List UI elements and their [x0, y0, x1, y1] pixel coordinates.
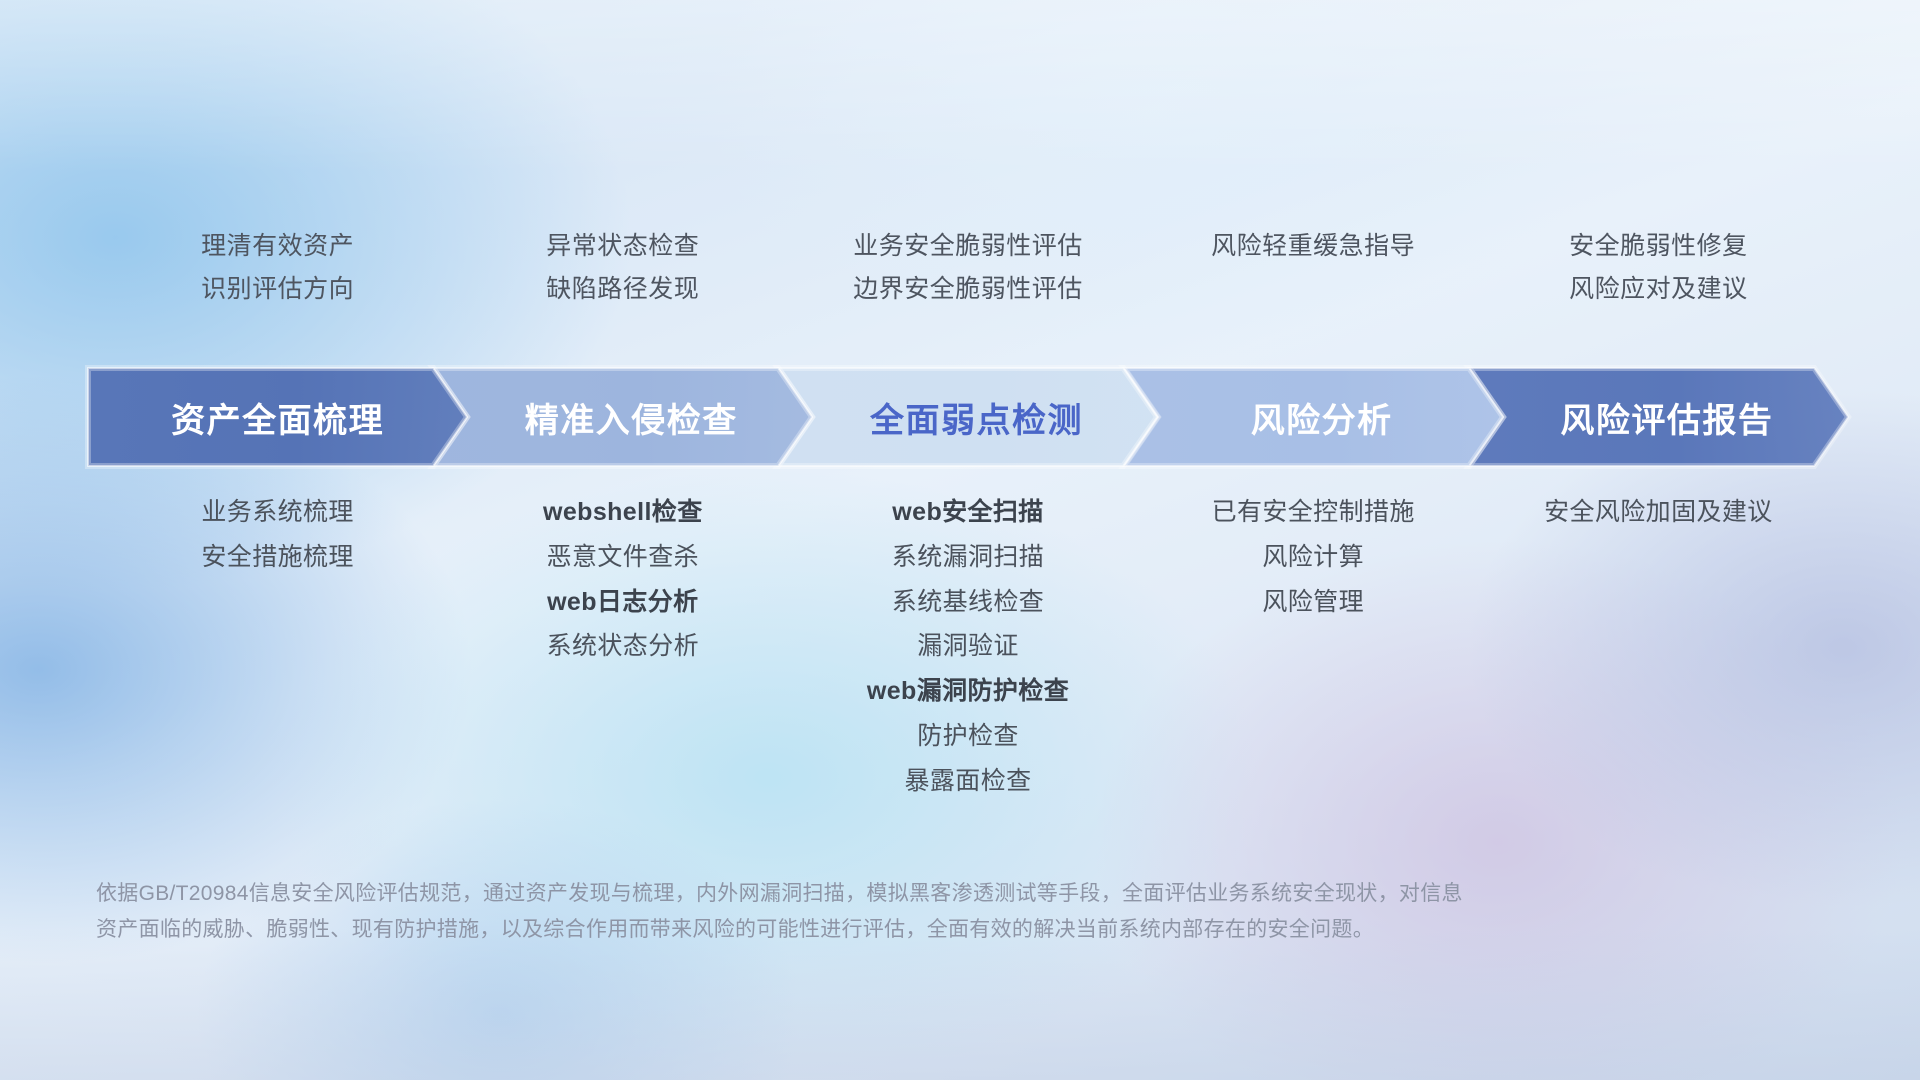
top-caption-line: 异常状态检查 — [546, 232, 699, 261]
process-step-intrusion-check[interactable]: 精准入侵检查 — [433, 368, 812, 466]
process-step-label: 风险评估报告 — [1560, 393, 1773, 442]
detail-list-item: 业务系统梳理 — [201, 498, 353, 527]
process-step-label: 全面弱点检测 — [870, 393, 1083, 442]
detail-list-item: 安全风险加固及建议 — [1544, 498, 1773, 527]
top-caption-group-intrusion-check: 异常状态检查缺陷路径发现 — [546, 232, 699, 304]
detail-list-item: webshell检查 — [543, 498, 703, 527]
footer-description: 依据GB/T20984信息安全风险评估规范，通过资产发现与梳理，内外网漏洞扫描，… — [96, 876, 1626, 948]
detail-list-item: 风险管理 — [1262, 588, 1364, 617]
detail-list-item: 恶意文件查杀 — [547, 543, 699, 572]
top-caption-line: 边界安全脆弱性评估 — [853, 275, 1083, 304]
detail-list-asset-inventory: 业务系统梳理安全措施梳理 — [201, 498, 353, 572]
process-step-risk-report[interactable]: 风险评估报告 — [1469, 368, 1848, 466]
detail-list-weakness-detection: web安全扫描系统漏洞扫描系统基线检查漏洞验证web漏洞防护检查防护检查暴露面检… — [867, 498, 1069, 795]
detail-list-item: web漏洞防护检查 — [867, 677, 1069, 706]
process-step-weakness-detection[interactable]: 全面弱点检测 — [778, 368, 1157, 466]
top-caption-group-weakness-detection: 业务安全脆弱性评估边界安全脆弱性评估 — [853, 232, 1083, 304]
top-caption-line: 风险应对及建议 — [1569, 275, 1748, 304]
detail-list-risk-report: 安全风险加固及建议 — [1544, 498, 1773, 527]
detail-list-item: 系统状态分析 — [547, 632, 699, 661]
top-caption-group-risk-analysis: 风险轻重缓急指导 — [1211, 232, 1415, 261]
footer-line-2: 资产面临的威胁、脆弱性、现有防护措施，以及综合作用而带来风险的可能性进行评估，全… — [96, 912, 1626, 948]
detail-list-item: 风险计算 — [1262, 543, 1364, 572]
detail-list-item: 暴露面检查 — [904, 767, 1031, 796]
top-caption-line: 业务安全脆弱性评估 — [853, 232, 1083, 261]
process-step-label: 资产全面梳理 — [171, 393, 384, 442]
top-caption-group-asset-inventory: 理清有效资产识别评估方向 — [201, 232, 354, 304]
detail-list-item: 安全措施梳理 — [201, 543, 353, 572]
top-caption-line: 风险轻重缓急指导 — [1211, 232, 1415, 261]
top-caption-group-risk-report: 安全脆弱性修复风险应对及建议 — [1569, 232, 1748, 304]
process-step-asset-inventory[interactable]: 资产全面梳理 — [88, 368, 467, 466]
top-caption-line: 安全脆弱性修复 — [1569, 232, 1748, 261]
process-chevron-band: 资产全面梳理精准入侵检查全面弱点检测风险分析风险评估报告 — [88, 368, 1848, 466]
top-caption-line: 理清有效资产 — [201, 232, 354, 261]
detail-list-intrusion-check: webshell检查恶意文件查杀web日志分析系统状态分析 — [543, 498, 703, 661]
detail-list-item: web日志分析 — [547, 588, 698, 617]
detail-list-risk-analysis: 已有安全控制措施风险计算风险管理 — [1212, 498, 1415, 616]
slide-canvas: 理清有效资产识别评估方向异常状态检查缺陷路径发现业务安全脆弱性评估边界安全脆弱性… — [0, 0, 1920, 1080]
process-step-risk-analysis[interactable]: 风险分析 — [1124, 368, 1503, 466]
process-step-label: 精准入侵检查 — [525, 393, 738, 442]
detail-list-item: 漏洞验证 — [917, 632, 1019, 661]
detail-list-item: 系统基线检查 — [892, 588, 1044, 617]
detail-list-item: 系统漏洞扫描 — [892, 543, 1044, 572]
footer-line-1: 依据GB/T20984信息安全风险评估规范，通过资产发现与梳理，内外网漏洞扫描，… — [96, 876, 1626, 912]
detail-list-item: 已有安全控制措施 — [1212, 498, 1415, 527]
detail-list-item: web安全扫描 — [892, 498, 1043, 527]
process-step-label: 风险分析 — [1251, 393, 1393, 442]
top-caption-line: 识别评估方向 — [201, 275, 354, 304]
top-caption-line: 缺陷路径发现 — [546, 275, 699, 304]
detail-list-item: 防护检查 — [917, 722, 1019, 751]
